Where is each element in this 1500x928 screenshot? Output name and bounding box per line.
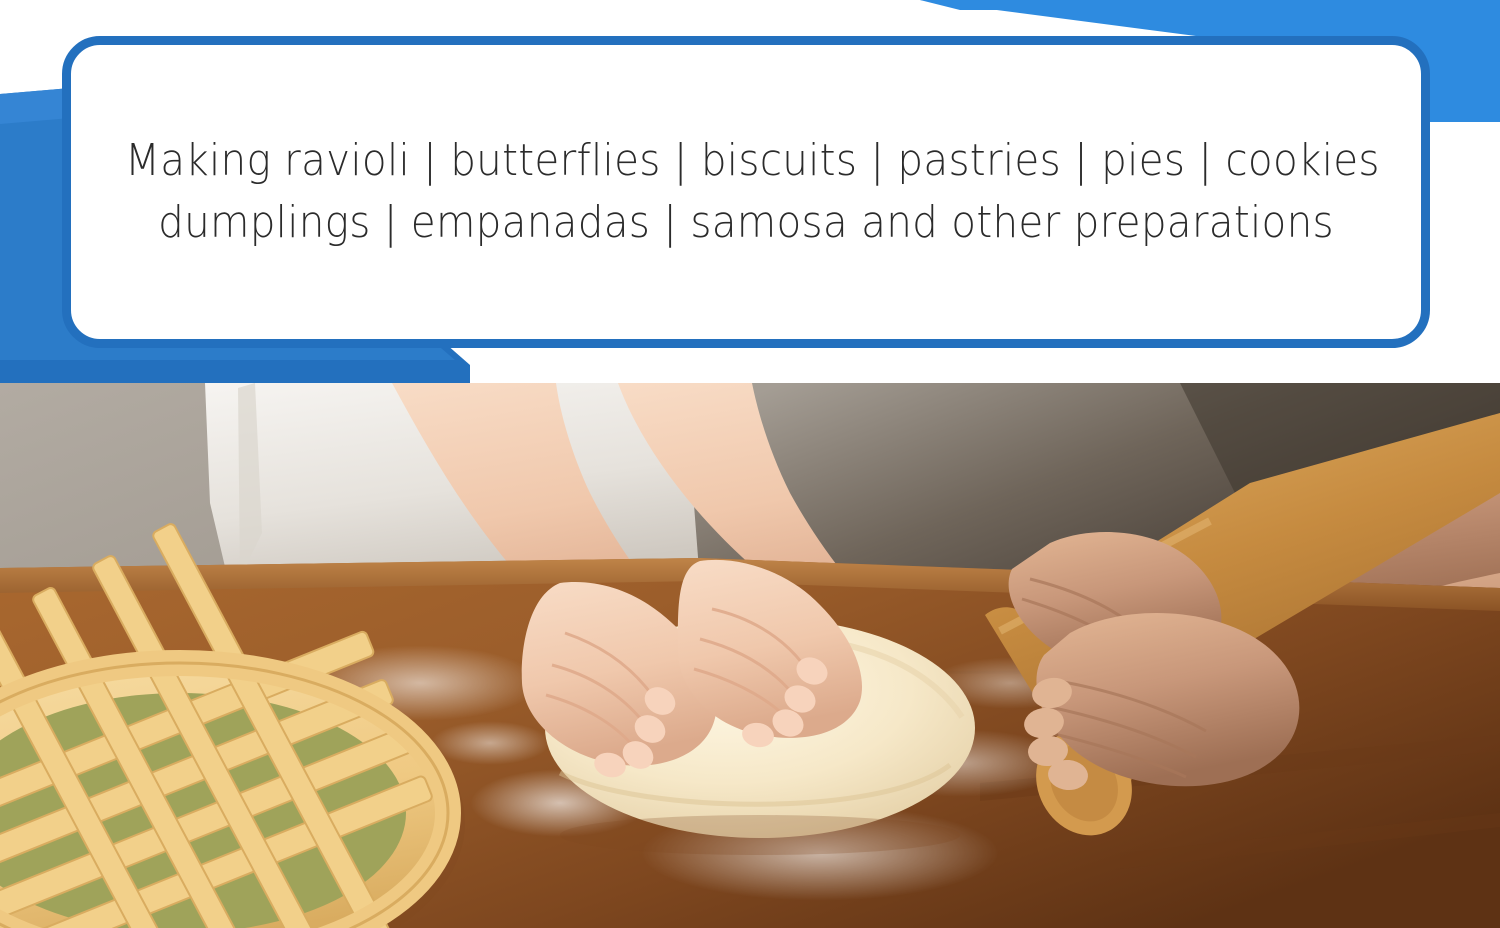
headline-text: Making ravioli | butterflies | biscuits …: [125, 130, 1367, 255]
headline-line-1: Making ravioli | butterflies | biscuits …: [125, 130, 1367, 192]
headline-speech-box: Making ravioli | butterflies | biscuits …: [62, 36, 1430, 348]
baking-photo: [0, 383, 1500, 928]
photo-illustration: [0, 383, 1500, 928]
headline-line-2: dumplings | empanadas | samosa and other…: [125, 192, 1367, 254]
banner-page: Making ravioli | butterflies | biscuits …: [0, 0, 1500, 928]
headline-banner: Making ravioli | butterflies | biscuits …: [0, 0, 1500, 383]
